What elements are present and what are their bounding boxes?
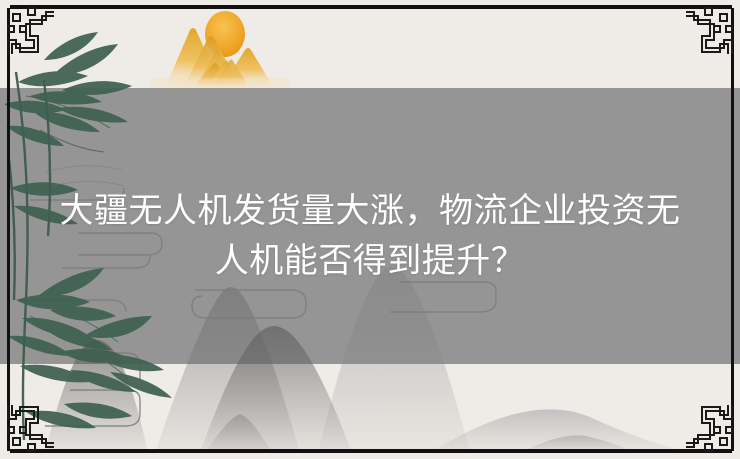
grey-mountain-right: [430, 409, 690, 453]
corner-ornament-bottom-right: [684, 403, 736, 455]
gold-peak-midleft: [183, 36, 241, 88]
frame-line-top: [10, 5, 732, 9]
frame-line-left: [7, 8, 10, 451]
frame-line-bottom: [10, 449, 732, 453]
gold-peak-left: [165, 28, 222, 88]
gold-peak-right: [221, 48, 274, 88]
poster-canvas: 大疆无人机发货量大涨，物流企业投资无人机能否得到提升？: [0, 0, 740, 459]
corner-ornament-top-left: [4, 4, 56, 56]
poster-title-text: 大疆无人机发货量大涨，物流企业投资无人机能否得到提升？: [44, 186, 696, 286]
gold-peak-front-b: [207, 61, 246, 89]
gold-haze: [150, 78, 290, 88]
corner-ornament-bottom-left: [4, 403, 56, 455]
gold-peak-right-small: [212, 60, 250, 89]
poster-title: 大疆无人机发货量大涨，物流企业投资无人机能否得到提升？: [44, 186, 696, 286]
corner-ornament-top-right: [684, 4, 736, 56]
cloud-motif-lower-left: [45, 390, 140, 426]
gold-peak-front-a: [193, 63, 237, 88]
grey-mountain-bump: [205, 414, 272, 453]
sun-icon: [205, 11, 245, 57]
frame-line-right: [731, 8, 734, 451]
gold-peak-center: [195, 51, 240, 89]
